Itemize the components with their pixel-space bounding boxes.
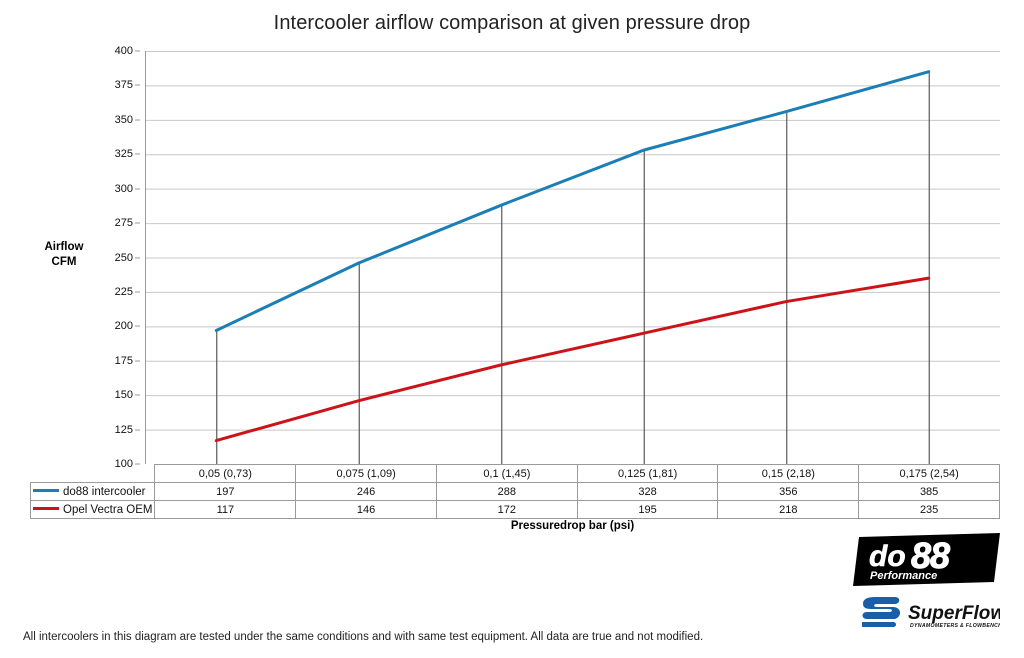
legend-swatch-blue [33,489,59,492]
superflow-logo-graphic: SuperFlow DYNAMOMETERS & FLOWBENCHES [853,594,1000,638]
droplines [217,72,930,464]
table-cell-value: 288 [436,483,577,501]
do88-logo: do 88 Performance [853,533,1000,586]
series-lines [216,72,929,441]
x-axis-title: Pressuredrop bar (psi) [145,520,1000,532]
y-tick-mark [135,291,140,292]
table-cell-value: 328 [577,483,718,501]
y-tick-mark [135,223,140,224]
y-axis-title: Airflow CFM [14,240,114,270]
y-tick-mark [135,257,140,258]
table-row-series-1: Opel Vectra OEM 117146172195218235 [31,501,1000,519]
y-tick-label: 250 [115,252,133,264]
superflow-wordmark: SuperFlow [908,603,1000,624]
chart-canvas [145,51,1000,464]
y-tick-label: 200 [115,320,133,332]
table-cell-value: 235 [859,501,1000,519]
y-tick-label: 275 [115,217,133,229]
y-tick-mark [135,188,140,189]
legend-label-series-1: Opel Vectra OEM [63,504,152,516]
legend-item-opel-vectra-oem[interactable]: Opel Vectra OEM [31,501,155,519]
footer-note: All intercoolers in this diagram are tes… [23,631,703,643]
y-tick-label: 350 [115,114,133,126]
plot-area [145,51,1000,464]
superflow-swoosh-icon [863,597,901,619]
legend-label-series-0: do88 intercooler [63,486,145,498]
x-axis-label: 0,125 (1,81) [577,465,718,483]
y-tick-mark [135,429,140,430]
superflow-logo: SuperFlow DYNAMOMETERS & FLOWBENCHES [853,594,1000,638]
y-tick-mark [135,395,140,396]
y-tick-label: 325 [115,148,133,160]
y-axis-title-line2: CFM [14,255,114,270]
legend-item-do88-intercooler[interactable]: do88 intercooler [31,483,155,501]
gridlines [145,52,1000,465]
y-tick-label: 125 [115,424,133,436]
do88-logo-graphic: do 88 Performance [853,533,1000,586]
table-corner-cell [31,465,155,483]
y-tick-label: 225 [115,286,133,298]
do88-wordmark: do [869,540,906,573]
x-axis-label: 0,05 (0,73) [155,465,296,483]
table-cell-value: 197 [155,483,296,501]
table-row-xlabels: 0,05 (0,73)0,075 (1,09)0,1 (1,45)0,125 (… [31,465,1000,483]
table-cell-value: 195 [577,501,718,519]
superflow-swoosh-bar-icon [862,622,896,627]
do88-tagline: Performance [870,570,937,582]
table-cell-value: 385 [859,483,1000,501]
x-axis-label: 0,1 (1,45) [436,465,577,483]
legend-swatch-red [33,507,59,510]
data-table: 0,05 (0,73)0,075 (1,09)0,1 (1,45)0,125 (… [30,464,1000,519]
series-line-1 [216,278,929,440]
series-line-0 [216,72,929,331]
y-tick-mark [135,51,140,52]
y-tick-mark [135,85,140,86]
y-tick-label: 150 [115,389,133,401]
y-tick-mark [135,360,140,361]
y-axis-title-line1: Airflow [14,240,114,255]
y-tick-mark [135,326,140,327]
x-axis-label: 0,175 (2,54) [859,465,1000,483]
table-cell-value: 218 [718,501,859,519]
table-cell-value: 172 [436,501,577,519]
table-cell-value: 356 [718,483,859,501]
table-row-series-0: do88 intercooler 197246288328356385 [31,483,1000,501]
chart-page: Intercooler airflow comparison at given … [0,0,1024,658]
table-cell-value: 117 [155,501,296,519]
table-cell-value: 146 [296,501,437,519]
y-axis-tick-labels: 400375350325300275250225200175150125100 [100,51,140,464]
page-title: Intercooler airflow comparison at given … [0,12,1024,35]
y-tick-label: 300 [115,183,133,195]
y-tick-label: 400 [115,45,133,57]
x-axis-label: 0,15 (2,18) [718,465,859,483]
superflow-tagline: DYNAMOMETERS & FLOWBENCHES [910,623,1000,629]
y-tick-label: 375 [115,79,133,91]
x-axis-label: 0,075 (1,09) [296,465,437,483]
y-tick-mark [135,119,140,120]
y-tick-label: 175 [115,355,133,367]
y-tick-mark [135,154,140,155]
table-cell-value: 246 [296,483,437,501]
